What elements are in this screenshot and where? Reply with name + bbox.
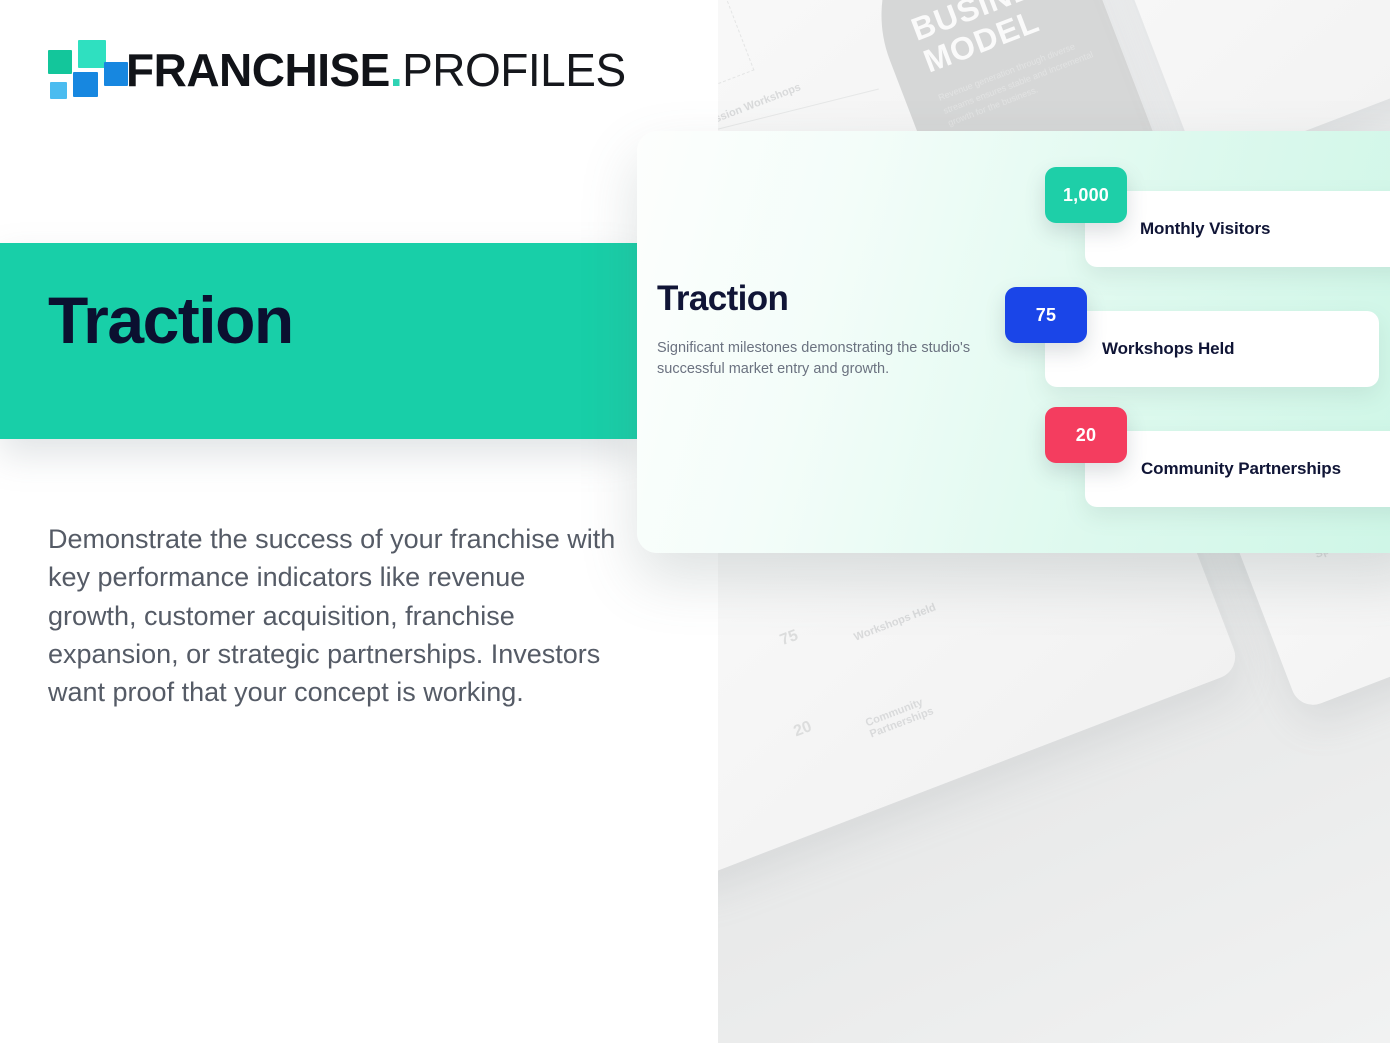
stat-label: Monthly Visitors <box>1140 219 1270 240</box>
section-description: Demonstrate the success of your franchis… <box>48 520 618 712</box>
stat-card[interactable]: Community Partnerships <box>1085 431 1390 507</box>
brand-name-dot: . <box>390 44 402 96</box>
stat-row[interactable]: Workshops Held 75 <box>997 287 1390 407</box>
wm-stat-value: 75 <box>778 627 801 650</box>
stat-list: Monthly Visitors 1,000 Workshops Held 75… <box>997 167 1390 527</box>
stat-card[interactable]: Workshops Held <box>1045 311 1379 387</box>
wm-stat-value: 20 <box>792 718 815 741</box>
wm-item-label: Session Workshops <box>718 81 803 130</box>
brand-name-light: PROFILES <box>402 44 626 96</box>
logo-square-5 <box>50 82 67 99</box>
logo-square-4 <box>104 62 128 86</box>
logo-square-1 <box>48 50 72 74</box>
slide-preview-card[interactable]: Traction Significant milestones demonstr… <box>637 131 1390 553</box>
brand-logo[interactable]: FRANCHISE.PROFILES <box>48 40 626 100</box>
left-content-column: FRANCHISE.PROFILES Traction Demonstrate … <box>0 0 718 1043</box>
stat-label: Workshops Held <box>1102 339 1234 360</box>
wm-item-label: FlexiblePricing <box>1198 0 1245 2</box>
brand-name-bold: FRANCHISE <box>126 44 390 96</box>
logo-square-2 <box>78 40 106 68</box>
preview-card-text-block: Traction Significant milestones demonstr… <box>657 281 977 380</box>
wm-underline <box>718 0 855 2</box>
brand-wordmark: FRANCHISE.PROFILES <box>126 47 626 93</box>
stat-row[interactable]: Community Partnerships 20 <box>997 407 1390 527</box>
section-banner: Traction <box>0 243 637 439</box>
stat-label: Community Partnerships <box>1141 459 1341 480</box>
preview-card-title: Traction <box>657 281 977 316</box>
stat-row[interactable]: Monthly Visitors 1,000 <box>997 167 1390 287</box>
five-squares-logo-icon <box>48 40 110 100</box>
wm-stat-label: Workshops Held <box>853 602 938 644</box>
slide-canvas: $ Drop-in Fees Session Workshops Commiss… <box>0 0 1390 1043</box>
stat-badge: 1,000 <box>1045 167 1127 223</box>
preview-card-description: Significant milestones demonstrating the… <box>657 338 977 380</box>
stat-badge: 75 <box>1005 287 1087 343</box>
page-title: Traction <box>48 287 293 353</box>
wm-stat-label: CommunityPartnerships <box>864 694 935 741</box>
logo-square-3 <box>73 72 98 97</box>
stat-card[interactable]: Monthly Visitors <box>1085 191 1390 267</box>
stat-badge: 20 <box>1045 407 1127 463</box>
